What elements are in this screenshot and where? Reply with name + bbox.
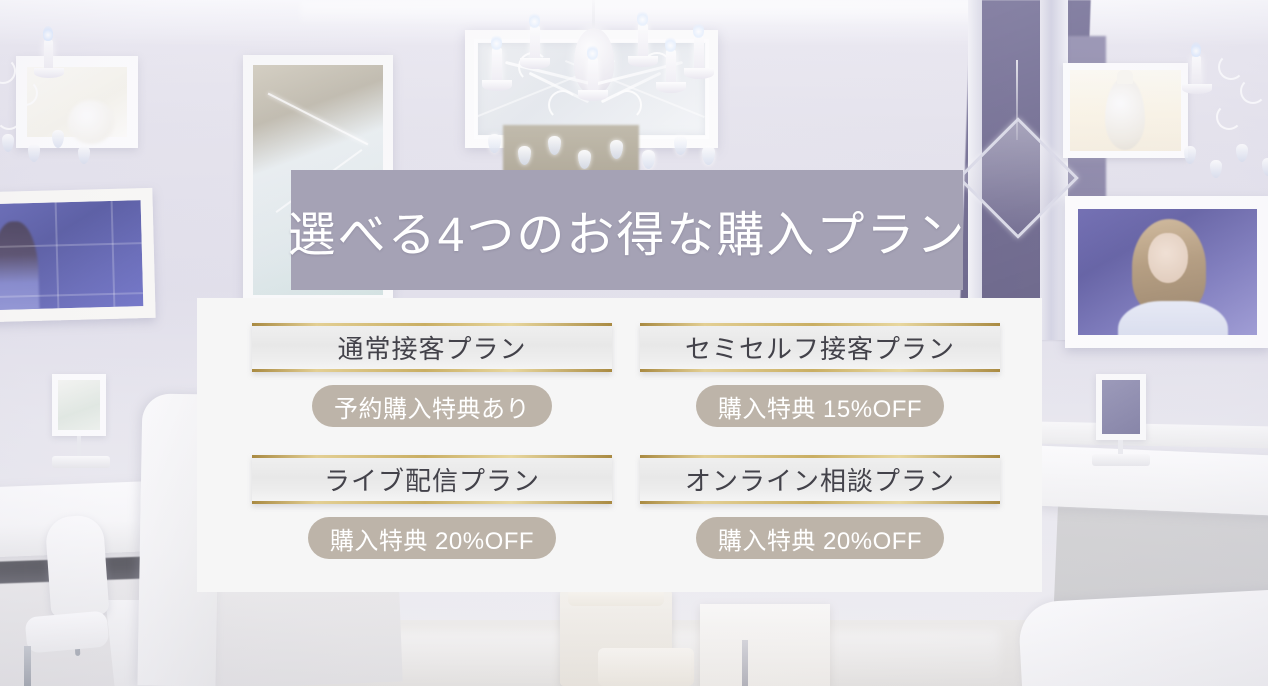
- chandelier-crystal: [642, 150, 655, 169]
- chandelier-candle: [694, 36, 704, 70]
- plan-title: オンライン相談プラン: [685, 461, 955, 498]
- sconce-cup: [1182, 84, 1212, 94]
- plan-badge-wrap: 購入特典 20%OFF: [252, 517, 612, 559]
- chandelier-crystal: [548, 136, 561, 155]
- sconce-flame: [43, 26, 53, 41]
- page-title: 選べる4つのお得な購入プラン: [288, 195, 967, 265]
- white-table: [700, 604, 830, 686]
- chair-seat: [25, 610, 110, 653]
- chandelier-candle: [530, 26, 540, 60]
- sconce-crystal: [78, 146, 90, 164]
- plan-title: セミセルフ接客プラン: [685, 329, 955, 366]
- person-face: [1148, 233, 1188, 283]
- sconce-crystal: [1236, 144, 1248, 162]
- sconce-crystal: [52, 130, 64, 148]
- chandelier-flame: [637, 10, 648, 26]
- sconce-candle: [1192, 56, 1201, 86]
- chandelier-flame: [491, 34, 502, 50]
- plan-header: セミセルフ接客プラン: [640, 323, 1000, 372]
- chandelier-cup: [656, 82, 686, 93]
- chandelier-candle: [638, 24, 648, 58]
- sconce-arm: [1240, 78, 1266, 104]
- vanity-mirror-base: [52, 456, 110, 468]
- sconce-crystal: [2, 134, 14, 152]
- sconce-flame: [1191, 42, 1201, 57]
- chandelier-crystal: [610, 140, 623, 159]
- stool-footrest: [598, 648, 694, 686]
- plan-benefit-badge: 予約購入特典あり: [312, 385, 552, 427]
- chandelier: [470, 0, 720, 184]
- vanity-mirror-stem: [77, 436, 81, 458]
- plan-benefit-badge: 購入特典 20%OFF: [696, 517, 944, 559]
- vase: [1105, 78, 1145, 150]
- sconce-arm: [0, 104, 22, 130]
- sconce-cup: [34, 68, 64, 78]
- plans-panel: 通常接客プラン 予約購入特典あり セミセルフ接客プラン 購入特典 15%OFF …: [197, 298, 1042, 592]
- chandelier-candle: [492, 48, 502, 82]
- table-leg: [742, 640, 748, 686]
- tablet-base: [1092, 454, 1150, 466]
- chandelier-cup: [628, 56, 658, 67]
- sconce-crystal: [28, 144, 40, 162]
- sconce-arm: [12, 80, 38, 106]
- person-silhouette: [0, 221, 40, 322]
- framed-display-left: [0, 188, 156, 322]
- chandelier-scroll: [612, 90, 642, 120]
- chandelier-cup: [482, 80, 512, 91]
- plan-card-online-consultation[interactable]: オンライン相談プラン 購入特典 20%OFF: [640, 455, 1000, 559]
- plan-title: 通常接客プラン: [337, 329, 526, 366]
- plans-grid: 通常接客プラン 予約購入特典あり セミセルフ接客プラン 購入特典 15%OFF …: [252, 323, 1000, 559]
- hero-title-band: 選べる4つのお得な購入プラン: [291, 170, 963, 290]
- plan-title: ライブ配信プラン: [324, 461, 540, 498]
- plan-card-normal[interactable]: 通常接客プラン 予約購入特典あり: [252, 323, 612, 427]
- vanity-mirror: [52, 374, 106, 436]
- plan-badge-wrap: 予約購入特典あり: [252, 385, 612, 427]
- plan-card-live-streaming[interactable]: ライブ配信プラン 購入特典 20%OFF: [252, 455, 612, 559]
- chandelier-cup: [578, 90, 608, 101]
- chandelier-crystal: [702, 146, 715, 165]
- chandelier-flame: [665, 36, 676, 52]
- wall-sconce-right: [1178, 34, 1268, 184]
- sconce-arm: [0, 58, 16, 84]
- sofa-right: [1018, 589, 1268, 686]
- sconce-crystal: [1210, 160, 1222, 178]
- chandelier-flame: [587, 44, 598, 60]
- chandelier-flame: [529, 12, 540, 28]
- person-body: [1118, 301, 1228, 348]
- chair-backrest: [45, 514, 110, 618]
- plan-benefit-badge: 購入特典 20%OFF: [308, 517, 556, 559]
- plan-header: 通常接客プラン: [252, 323, 612, 372]
- framed-display-right: [1065, 196, 1268, 348]
- chandelier-crystal: [488, 134, 501, 153]
- window-grid-line: [55, 202, 60, 308]
- chandelier-crystal: [518, 146, 531, 165]
- chandelier-candle: [666, 50, 676, 84]
- chandelier-cup: [684, 68, 714, 79]
- chandelier-scroll: [548, 90, 578, 120]
- window-grid-line: [111, 201, 116, 307]
- vase-neck: [1117, 70, 1133, 84]
- chandelier-crystal: [578, 150, 591, 169]
- chandelier-flame: [693, 22, 704, 38]
- sconce-crystal: [1262, 158, 1268, 176]
- chair-post: [24, 646, 31, 686]
- plan-header: オンライン相談プラン: [640, 455, 1000, 504]
- sconce-arm: [1216, 104, 1242, 130]
- plan-benefit-badge: 購入特典 15%OFF: [696, 385, 944, 427]
- tablet-display: [1096, 374, 1146, 440]
- plan-badge-wrap: 購入特典 20%OFF: [640, 517, 1000, 559]
- sconce-candle: [44, 40, 53, 70]
- chandelier-candle: [588, 58, 598, 92]
- sconce-crystal: [1184, 146, 1196, 164]
- wall-sconce-left: [0, 18, 102, 168]
- chandelier-cup: [520, 58, 550, 69]
- plan-badge-wrap: 購入特典 15%OFF: [640, 385, 1000, 427]
- plan-card-semi-self[interactable]: セミセルフ接客プラン 購入特典 15%OFF: [640, 323, 1000, 427]
- chandelier-crystal: [674, 136, 687, 155]
- sconce-arm: [1218, 54, 1244, 80]
- hero-banner: 選べる4つのお得な購入プラン 通常接客プラン 予約購入特典あり セミセルフ接客プ…: [0, 0, 1268, 686]
- plan-header: ライブ配信プラン: [252, 455, 612, 504]
